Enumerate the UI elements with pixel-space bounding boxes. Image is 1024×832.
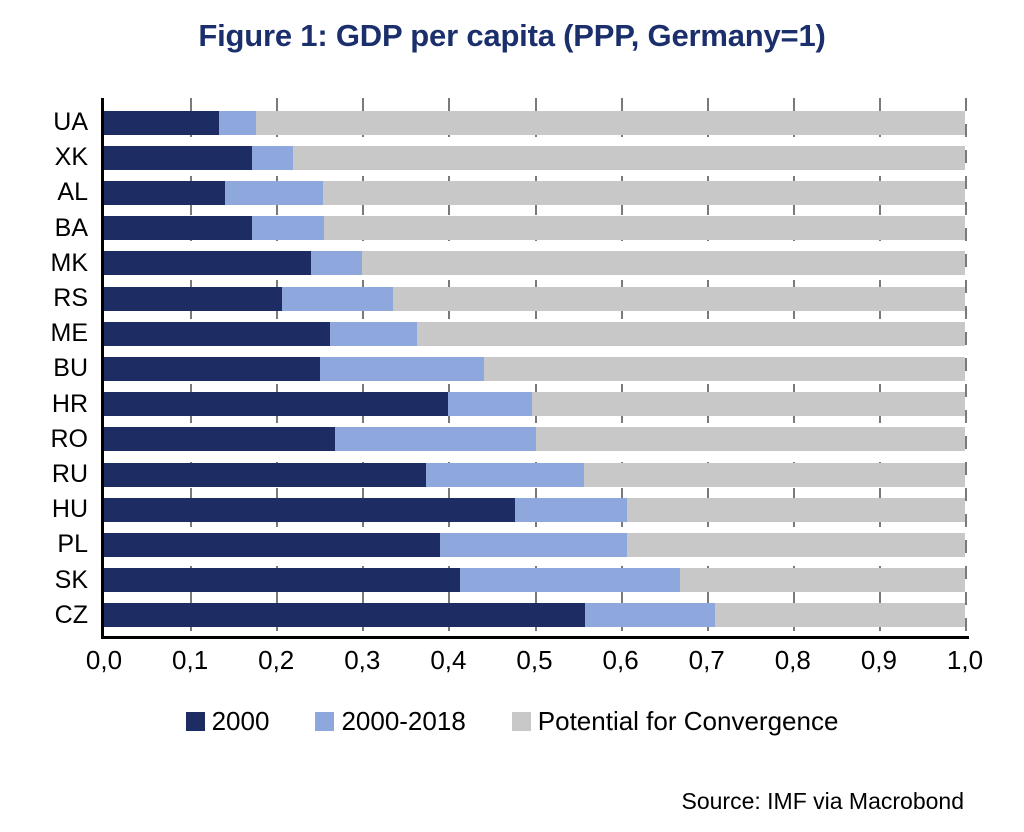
y-axis-category-label: ME [8, 316, 88, 351]
y-axis-category-label: PL [8, 527, 88, 562]
source-note: Source: IMF via Macrobond [681, 788, 964, 815]
bar-row[interactable]: XK [104, 140, 965, 175]
x-axis-tick-label: 1,0 [930, 645, 1000, 676]
bar-segment-2000[interactable] [104, 568, 460, 592]
bar-segment-2000[interactable] [104, 287, 282, 311]
legend-item[interactable]: Potential for Convergence [512, 706, 839, 737]
stacked-bar[interactable] [104, 216, 965, 240]
legend-label: Potential for Convergence [538, 706, 839, 737]
bar-segment-2000-2018[interactable] [282, 287, 393, 311]
bar-segment-2000-2018[interactable] [460, 568, 680, 592]
x-axis-tick-label: 0,8 [758, 645, 828, 676]
bar-segment-potential[interactable] [393, 287, 965, 311]
bar-segment-2000[interactable] [104, 498, 515, 522]
bar-row[interactable]: RU [104, 457, 965, 492]
x-axis-line [101, 636, 969, 639]
bar-segment-2000-2018[interactable] [311, 251, 363, 275]
bar-row[interactable]: AL [104, 175, 965, 210]
bar-row[interactable]: ME [104, 316, 965, 351]
stacked-bar[interactable] [104, 427, 965, 451]
x-axis-tick-label: 0,5 [500, 645, 570, 676]
stacked-bar[interactable] [104, 251, 965, 275]
y-axis-category-label: BA [8, 211, 88, 246]
bar-segment-2000-2018[interactable] [335, 427, 536, 451]
x-axis-tick-label: 0,9 [844, 645, 914, 676]
bar-segment-2000[interactable] [104, 146, 252, 170]
bar-segment-2000-2018[interactable] [320, 357, 484, 381]
y-axis-category-label: MK [8, 246, 88, 281]
stacked-bar[interactable] [104, 287, 965, 311]
bar-segment-potential[interactable] [417, 322, 965, 346]
stacked-bar[interactable] [104, 568, 965, 592]
bar-row[interactable]: HR [104, 387, 965, 422]
bar-segment-potential[interactable] [536, 427, 965, 451]
bar-segment-2000-2018[interactable] [585, 603, 715, 627]
bar-row[interactable]: BU [104, 351, 965, 386]
bar-segment-potential[interactable] [256, 111, 965, 135]
legend-label: 2000-2018 [341, 706, 465, 737]
bar-segment-2000-2018[interactable] [426, 463, 584, 487]
bar-row[interactable]: MK [104, 246, 965, 281]
x-axis-tick-labels: 0,00,10,20,30,40,50,60,70,80,91,0 [104, 645, 965, 679]
stacked-bar[interactable] [104, 146, 965, 170]
chart-title: Figure 1: GDP per capita (PPP, Germany=1… [0, 18, 1024, 54]
stacked-bar[interactable] [104, 181, 965, 205]
bar-row[interactable]: RO [104, 422, 965, 457]
bar-row[interactable]: RS [104, 281, 965, 316]
bar-row[interactable]: CZ [104, 598, 965, 633]
bar-segment-2000-2018[interactable] [219, 111, 255, 135]
bar-segment-2000[interactable] [104, 392, 448, 416]
stacked-bar[interactable] [104, 498, 965, 522]
y-axis-category-label: SK [8, 563, 88, 598]
bar-segment-potential[interactable] [680, 568, 965, 592]
bar-segment-potential[interactable] [627, 498, 965, 522]
legend-swatch-icon [512, 712, 531, 731]
bar-segment-2000-2018[interactable] [440, 533, 627, 557]
x-axis-tick-label: 0,2 [241, 645, 311, 676]
legend-swatch-icon [186, 712, 205, 731]
chart-legend: 20002000-2018Potential for Convergence [0, 706, 1024, 737]
plot-area: UAXKALBAMKRSMEBUHRRORUHUPLSKCZ [104, 105, 965, 633]
figure-gdp-per-capita: Figure 1: GDP per capita (PPP, Germany=1… [0, 0, 1024, 832]
bar-segment-potential[interactable] [627, 533, 965, 557]
bar-segment-potential[interactable] [584, 463, 965, 487]
bar-segment-2000-2018[interactable] [225, 181, 323, 205]
bar-segment-2000-2018[interactable] [330, 322, 418, 346]
y-axis-category-label: RS [8, 281, 88, 316]
bar-segment-2000-2018[interactable] [515, 498, 627, 522]
bar-segment-potential[interactable] [484, 357, 965, 381]
bar-segment-2000[interactable] [104, 111, 219, 135]
stacked-bar[interactable] [104, 533, 965, 557]
bar-segment-potential[interactable] [362, 251, 965, 275]
bar-row[interactable]: HU [104, 492, 965, 527]
bar-segment-2000[interactable] [104, 322, 330, 346]
stacked-bar[interactable] [104, 111, 965, 135]
bar-segment-potential[interactable] [324, 216, 965, 240]
x-axis-tick-label: 0,4 [413, 645, 483, 676]
bar-row[interactable]: UA [104, 105, 965, 140]
bar-segment-2000[interactable] [104, 533, 440, 557]
bar-segment-2000-2018[interactable] [252, 216, 324, 240]
y-axis-category-label: CZ [8, 598, 88, 633]
legend-item[interactable]: 2000-2018 [315, 706, 465, 737]
x-axis-tick-label: 0,7 [672, 645, 742, 676]
y-axis-category-label: RU [8, 457, 88, 492]
bar-row[interactable]: SK [104, 563, 965, 598]
y-axis-category-label: BU [8, 351, 88, 386]
y-axis-category-label: HR [8, 387, 88, 422]
bar-segment-potential[interactable] [293, 146, 965, 170]
stacked-bar[interactable] [104, 392, 965, 416]
bar-segment-2000[interactable] [104, 181, 225, 205]
gridline [965, 98, 967, 636]
bar-segment-2000[interactable] [104, 463, 426, 487]
bar-segment-2000[interactable] [104, 251, 311, 275]
bar-segment-2000-2018[interactable] [448, 392, 532, 416]
stacked-bar[interactable] [104, 322, 965, 346]
stacked-bar[interactable] [104, 357, 965, 381]
bar-segment-potential[interactable] [323, 181, 965, 205]
bar-segment-potential[interactable] [532, 392, 965, 416]
bar-segment-2000[interactable] [104, 427, 335, 451]
y-axis-category-label: UA [8, 105, 88, 140]
bar-segment-potential[interactable] [715, 603, 965, 627]
legend-label: 2000 [212, 706, 270, 737]
y-axis-category-label: HU [8, 492, 88, 527]
bar-row[interactable]: PL [104, 527, 965, 562]
bar-segment-2000-2018[interactable] [252, 146, 293, 170]
bar-segment-2000[interactable] [104, 357, 320, 381]
legend-swatch-icon [315, 712, 334, 731]
bar-segment-2000[interactable] [104, 603, 585, 627]
y-axis-category-label: RO [8, 422, 88, 457]
x-axis-tick-label: 0,3 [327, 645, 397, 676]
stacked-bar[interactable] [104, 603, 965, 627]
y-axis-category-label: AL [8, 175, 88, 210]
bar-segment-2000[interactable] [104, 216, 252, 240]
legend-item[interactable]: 2000 [186, 706, 270, 737]
x-axis-tick-label: 0,0 [69, 645, 139, 676]
y-axis-category-label: XK [8, 140, 88, 175]
x-axis-tick-label: 0,1 [155, 645, 225, 676]
bar-row[interactable]: BA [104, 211, 965, 246]
stacked-bar[interactable] [104, 463, 965, 487]
x-axis-tick-label: 0,6 [586, 645, 656, 676]
